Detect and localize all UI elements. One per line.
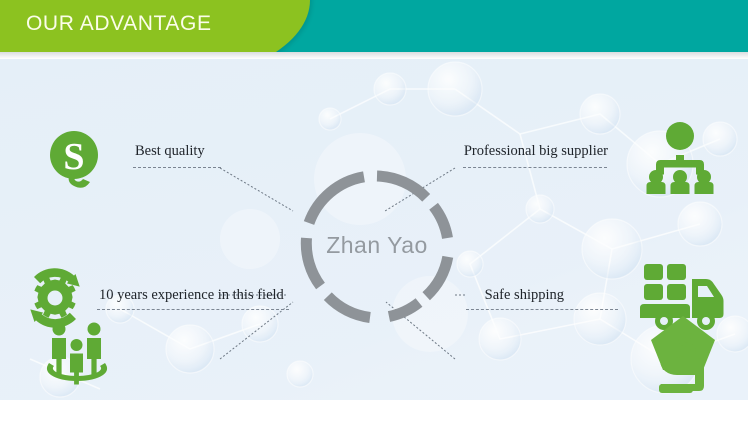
feature-label-best-quality: Best quality	[135, 143, 205, 160]
advantage-banner: OUR ADVANTAGE	[0, 0, 748, 427]
quality-sq-icon: S	[40, 125, 110, 200]
org-chart-icon	[640, 119, 720, 204]
header-shadow	[0, 52, 748, 59]
people-group-icon	[40, 314, 114, 393]
center-ring: Zhan Yao	[296, 166, 458, 328]
svg-text:S: S	[63, 136, 84, 178]
rule-experience	[97, 309, 289, 310]
bottom-whitespace	[0, 400, 748, 427]
feature-label-professional-supplier: Professional big supplier	[464, 143, 608, 160]
hand-money-icon	[645, 314, 721, 400]
center-label: Zhan Yao	[296, 232, 458, 259]
rule-safe-shipping	[466, 309, 618, 310]
rule-best-quality	[133, 167, 221, 168]
page-title: OUR ADVANTAGE	[26, 12, 212, 36]
header-bar: OUR ADVANTAGE	[0, 0, 748, 52]
rule-professional-supplier	[463, 167, 607, 168]
feature-label-safe-shipping: Safe shipping	[485, 287, 564, 304]
feature-label-experience: 10 years experience in this field	[99, 287, 284, 304]
content-panel: Zhan Yao S Best quality	[0, 59, 748, 400]
